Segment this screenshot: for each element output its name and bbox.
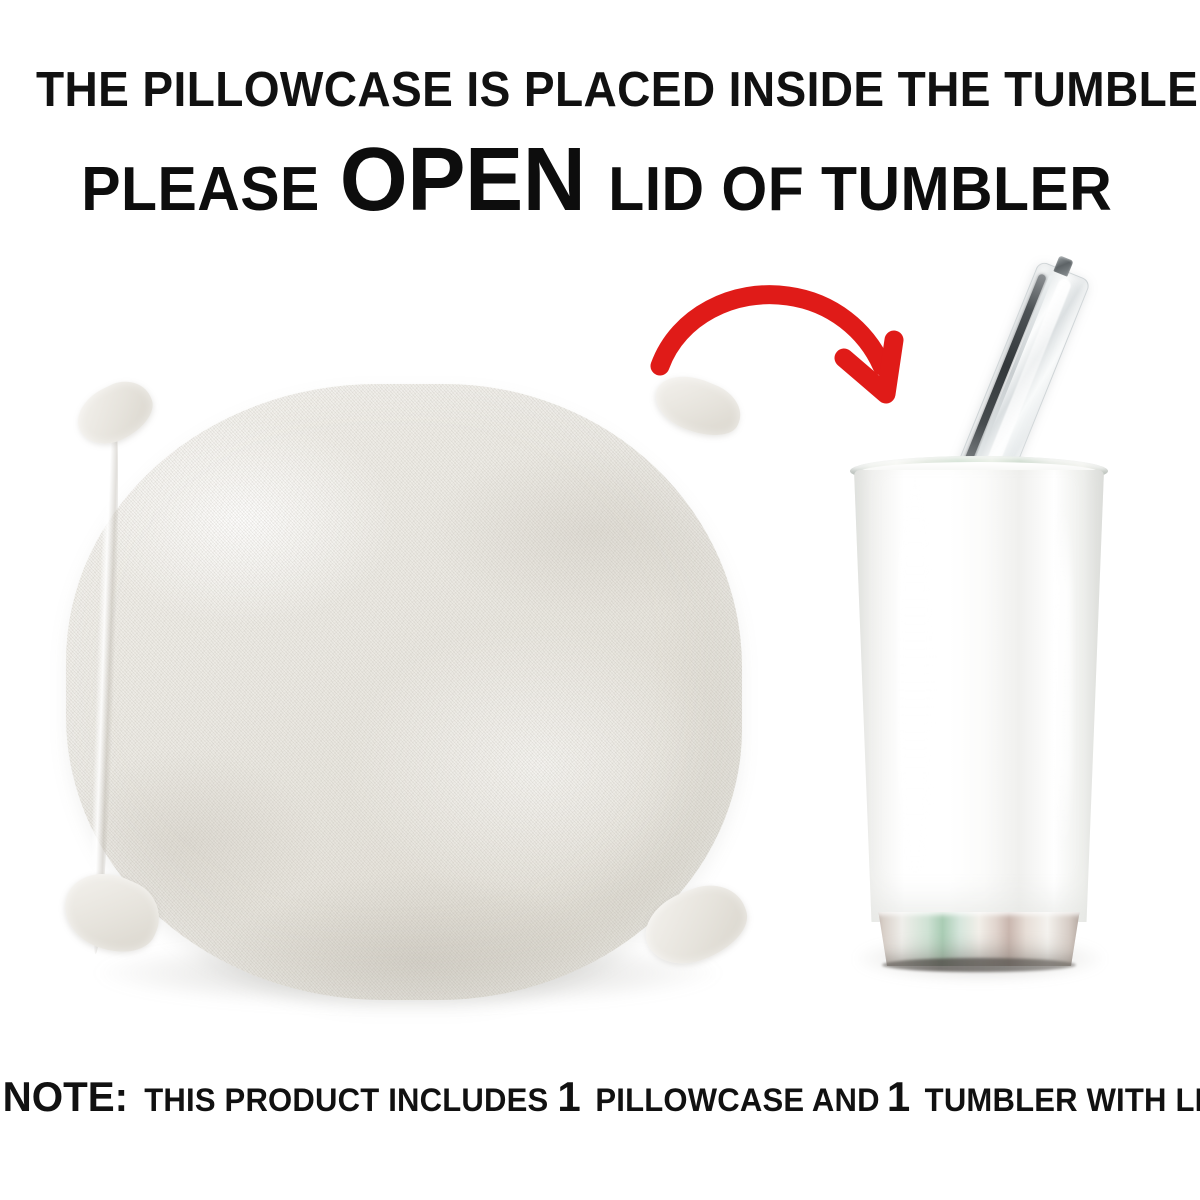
headline-secondary: PLEASEOPENLID OF TUMBLER [0,140,1200,246]
note-label: NOTE: [3,1072,128,1122]
note-segment-2: PILLOWCASE AND [595,1075,879,1125]
note-segment-3: TUMBLER WITH LID [925,1075,1200,1125]
note-line: NOTE:THIS PRODUCT INCLUDES1PILLOWCASE AN… [0,1072,1200,1132]
note-segment-1: THIS PRODUCT INCLUDES [144,1075,548,1125]
tumbler-shadow [858,940,1102,982]
pillow-body [66,384,742,1000]
headline-secondary-suffix: LID OF TUMBLER [608,150,1112,230]
headline-primary: THE PILLOWCASE IS PLACED INSIDE THE TUMB… [36,62,1164,118]
note-quantity-pillowcase: 1 [557,1072,580,1122]
headline-secondary-emphasis: OPEN [340,140,585,220]
tumbler-highlight-right [1052,500,1072,860]
note-quantity-tumbler: 1 [887,1072,910,1122]
product-instruction-graphic: THE PILLOWCASE IS PLACED INSIDE THE TUMB… [0,0,1200,1200]
pillow-illustration [58,378,758,1028]
tumbler-highlight-left [898,482,932,882]
tumbler-illustration [820,250,1140,990]
headline-secondary-prefix: PLEASE [81,150,320,230]
pillow-corner-top-left [68,372,162,455]
